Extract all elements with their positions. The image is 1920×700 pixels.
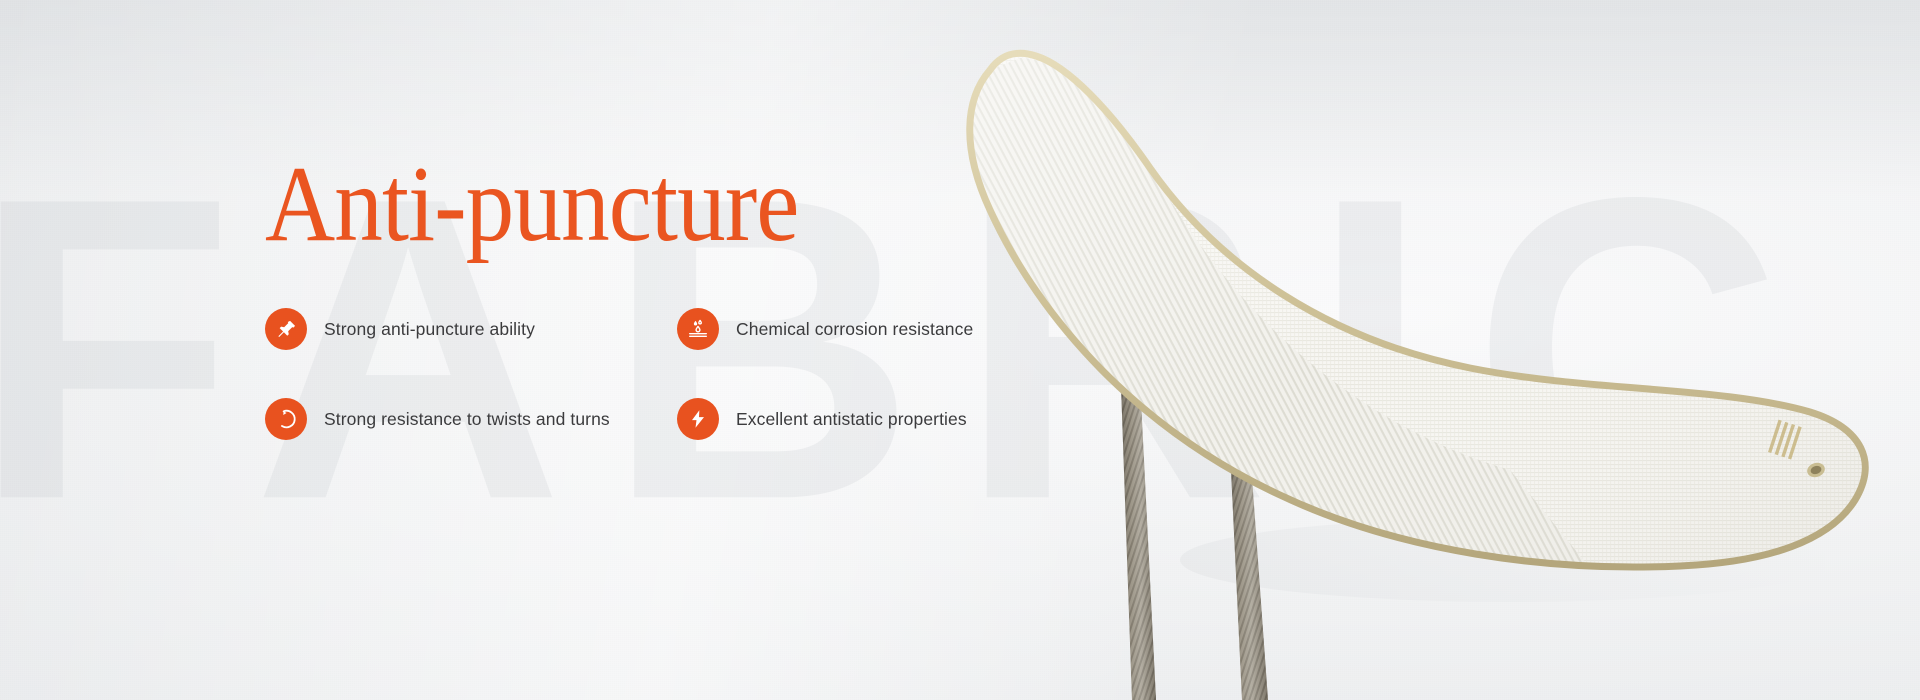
feature-label: Chemical corrosion resistance (736, 319, 973, 340)
fabric-marking (1768, 420, 1802, 460)
lightning-bolt-icon (677, 398, 719, 440)
feature-item-antistatic[interactable]: Excellent antistatic properties (677, 398, 1089, 440)
feature-label: Strong resistance to twists and turns (324, 409, 610, 430)
feature-label: Excellent antistatic properties (736, 409, 967, 430)
banner-content: Anti-puncture Strong anti-puncture abili… (265, 150, 985, 440)
feature-item-anti-puncture[interactable]: Strong anti-puncture ability (265, 308, 677, 350)
feature-item-chemical-resistance[interactable]: Chemical corrosion resistance (677, 308, 1089, 350)
fabric-hole (1805, 461, 1826, 480)
metal-spikes (1118, 300, 1268, 700)
feature-label: Strong anti-puncture ability (324, 319, 535, 340)
feature-item-twist-resistance[interactable]: Strong resistance to twists and turns (265, 398, 677, 440)
pushpin-icon (265, 308, 307, 350)
product-photo (950, 0, 1920, 700)
page-title: Anti-puncture (265, 150, 913, 260)
rotate-twist-icon (265, 398, 307, 440)
fabric-board (950, 0, 1920, 700)
anti-puncture-banner: FABRIC (0, 0, 1920, 700)
product-shadow (1180, 518, 1840, 602)
feature-list: Strong anti-puncture ability (265, 308, 985, 440)
chemical-drops-icon (677, 308, 719, 350)
